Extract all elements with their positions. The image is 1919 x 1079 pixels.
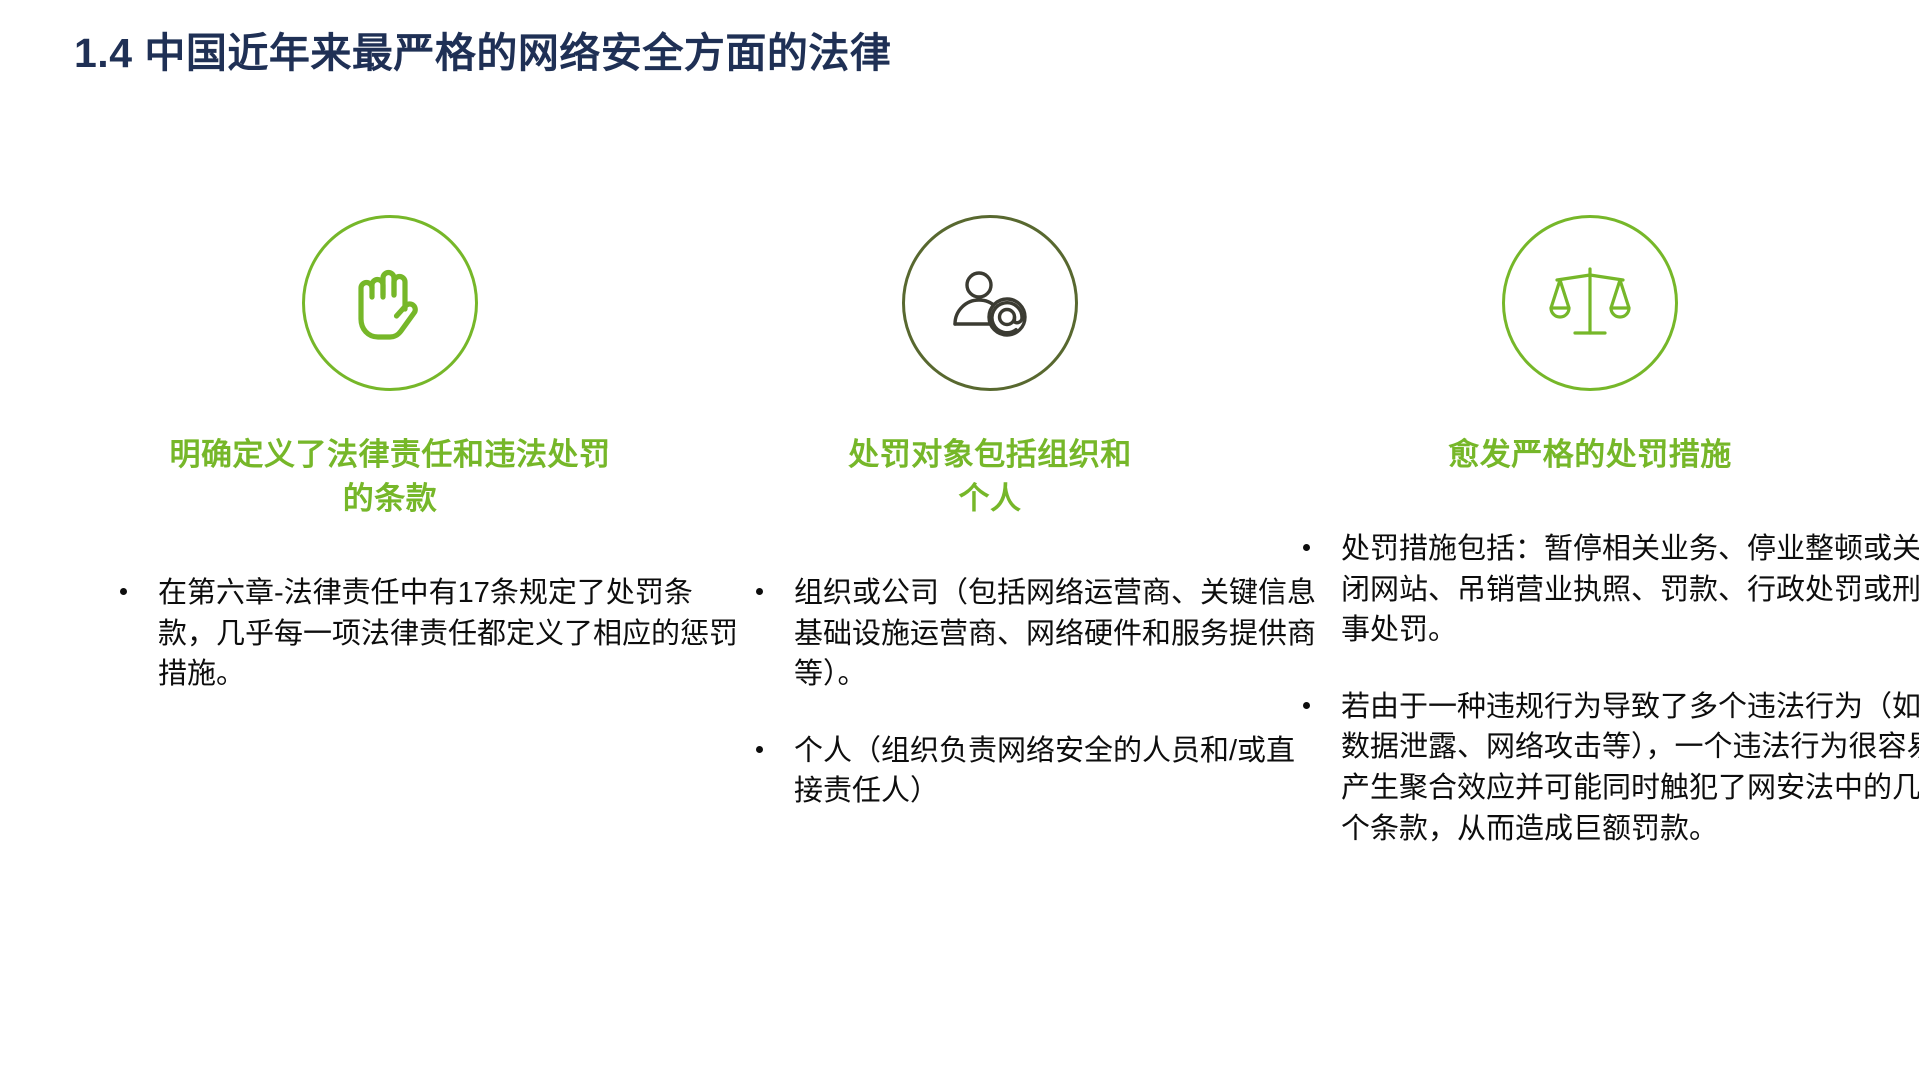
- column-3: 愈发严格的处罚措施 处罚措施包括：暂停相关业务、停业整顿或关闭网站、吊销营业执照…: [1270, 215, 1910, 849]
- icon-circle-2: [902, 215, 1078, 391]
- column-1-heading: 明确定义了法律责任和违法处罚的条款: [160, 433, 620, 521]
- list-item: 在第六章-法律责任中有17条规定了处罚条款，几乎每一项法律责任都定义了相应的惩罚…: [120, 573, 740, 695]
- bullet-dot-icon: [1303, 702, 1310, 709]
- hand-stop-icon: [352, 263, 428, 343]
- column-2: 处罚对象包括组织和个人 组织或公司（包括网络运营商、关键信息基础设施运营商、网络…: [710, 215, 1270, 812]
- bullet-dot-icon: [120, 588, 127, 595]
- content-columns: 明确定义了法律责任和违法处罚的条款 在第六章-法律责任中有17条规定了处罚条款，…: [0, 215, 1919, 849]
- scales-of-justice-icon: [1549, 263, 1631, 343]
- bullet-dot-icon: [756, 588, 763, 595]
- icon-circle-1: [302, 215, 478, 391]
- icon-circle-3: [1502, 215, 1678, 391]
- page-title: 1.4 中国近年来最严格的网络安全方面的法律: [74, 28, 891, 79]
- column-2-heading: 处罚对象包括组织和个人: [840, 433, 1140, 521]
- list-item-text: 若由于一种违规行为导致了多个违法行为（如数据泄露、网络攻击等），一个违法行为很容…: [1341, 687, 1919, 849]
- slide-root: 1.4 中国近年来最严格的网络安全方面的法律 明确定义了法律责任和违法处罚的条款: [0, 0, 1919, 1079]
- column-3-bullets: 处罚措施包括：暂停相关业务、停业整顿或关闭网站、吊销营业执照、罚款、行政处罚或刑…: [1207, 529, 1919, 849]
- column-1: 明确定义了法律责任和违法处罚的条款 在第六章-法律责任中有17条规定了处罚条款，…: [80, 215, 700, 695]
- column-3-heading: 愈发严格的处罚措施: [1380, 433, 1800, 477]
- list-item: 若由于一种违规行为导致了多个违法行为（如数据泄露、网络攻击等），一个违法行为很容…: [1303, 687, 1919, 849]
- list-item-text: 在第六章-法律责任中有17条规定了处罚条款，几乎每一项法律责任都定义了相应的惩罚…: [158, 573, 740, 695]
- list-item-text: 处罚措施包括：暂停相关业务、停业整顿或关闭网站、吊销营业执照、罚款、行政处罚或刑…: [1341, 529, 1919, 651]
- person-at-sign-icon: [949, 268, 1031, 338]
- bullet-dot-icon: [756, 746, 763, 753]
- bullet-dot-icon: [1303, 544, 1310, 551]
- list-item: 处罚措施包括：暂停相关业务、停业整顿或关闭网站、吊销营业执照、罚款、行政处罚或刑…: [1303, 529, 1919, 651]
